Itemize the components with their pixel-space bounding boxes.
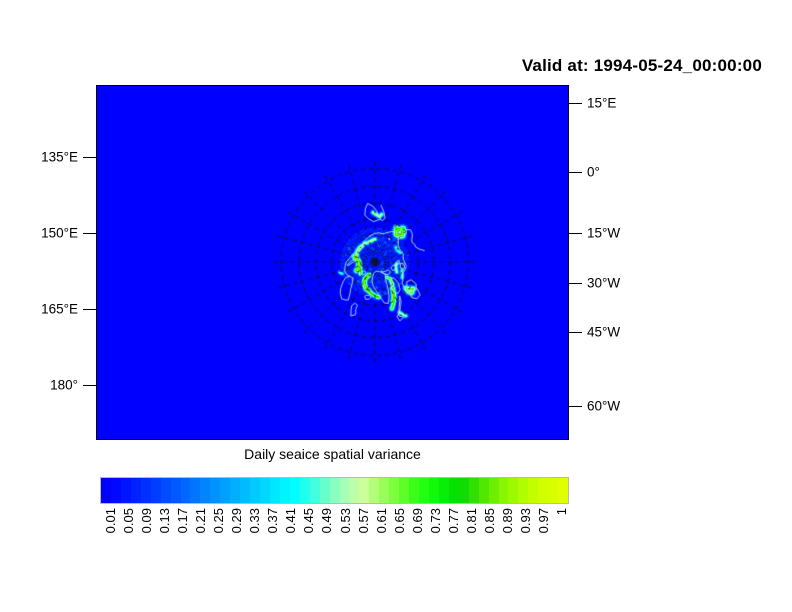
colorbar-tick-label: 0.29 [230,508,243,533]
left-axis-tick-label: 135°E [41,150,78,164]
colorbar-cell [101,478,111,503]
colorbar-gradient [100,477,569,504]
colorbar-tick-label: 0.73 [429,508,442,533]
colorbar-cell [409,478,419,503]
colorbar-cell [369,478,379,503]
colorbar-tick-label: 0.49 [320,508,333,533]
right-tick-mark [569,283,582,284]
colorbar-cell [419,478,429,503]
left-axis-tick-label: 180° [50,378,78,392]
colorbar-cell [190,478,200,503]
colorbar-cell [439,478,449,503]
colorbar-cell [389,478,399,503]
right-axis-tick-label: 60°W [587,399,620,413]
colorbar-tick-label: 0.41 [284,508,297,533]
right-tick-mark [569,172,582,173]
colorbar-cell [429,478,439,503]
colorbar-tick-label: 0.65 [393,508,406,533]
left-tick-mark [83,233,96,234]
colorbar-cell [479,478,489,503]
right-tick-mark [569,103,582,104]
colorbar-cell [200,478,210,503]
colorbar-cell [349,478,359,503]
colorbar-cell [340,478,350,503]
colorbar-tick-label: 0.45 [302,508,315,533]
colorbar-tick-label: 0.93 [519,508,532,533]
colorbar-tick-label: 0.89 [501,508,514,533]
colorbar-tick-label: 0.69 [411,508,424,533]
left-tick-mark [83,157,96,158]
colorbar-cell [220,478,230,503]
colorbar-cell [528,478,538,503]
colorbar-tick-label: 0.57 [357,508,370,533]
colorbar-tick-label: 0.13 [158,508,171,533]
colorbar-cell [518,478,528,503]
colorbar-cell [240,478,250,503]
map-caption: Daily seaice spatial variance [96,446,569,462]
colorbar-cell [260,478,270,503]
colorbar-tick-label: 0.77 [447,508,460,533]
colorbar-tick-label: 1 [555,508,568,515]
colorbar-cell [459,478,469,503]
colorbar-cell [499,478,509,503]
left-tick-mark [83,385,96,386]
colorbar-tick-label: 0.01 [104,508,117,533]
colorbar-tick-label: 0.97 [537,508,550,533]
colorbar-cell [508,478,518,503]
colorbar-cell [141,478,151,503]
colorbar-tick-label: 0.21 [194,508,207,533]
colorbar-cell [469,478,479,503]
colorbar [100,477,569,504]
right-tick-mark [569,406,582,407]
colorbar-tick-label: 0.25 [212,508,225,533]
colorbar-cell [181,478,191,503]
colorbar-tick-label: 0.85 [483,508,496,533]
left-axis-tick-label: 165°E [41,302,78,316]
colorbar-cell [270,478,280,503]
seaice-variance-map [97,86,568,439]
colorbar-tick-labels: 0.010.050.090.130.170.210.250.290.330.37… [100,508,569,564]
colorbar-cell [548,478,558,503]
colorbar-tick-label: 0.09 [140,508,153,533]
colorbar-cell [290,478,300,503]
left-axis-tick-label: 150°E [41,226,78,240]
colorbar-cell [171,478,181,503]
right-tick-mark [569,233,582,234]
page-title: Valid at: 1994-05-24_00:00:00 [522,56,762,76]
colorbar-cell [121,478,131,503]
right-axis-tick-label: 30°W [587,276,620,290]
colorbar-cell [131,478,141,503]
colorbar-tick-label: 0.05 [122,508,135,533]
right-axis-tick-label: 45°W [587,325,620,339]
colorbar-tick-label: 0.61 [375,508,388,533]
colorbar-cell [320,478,330,503]
colorbar-cell [210,478,220,503]
colorbar-cell [489,478,499,503]
colorbar-tick-label: 0.17 [176,508,189,533]
colorbar-cell [300,478,310,503]
colorbar-cell [230,478,240,503]
map-panel [96,85,569,440]
colorbar-tick-label: 0.33 [248,508,261,533]
colorbar-cell [250,478,260,503]
left-tick-mark [83,309,96,310]
colorbar-cell [538,478,548,503]
colorbar-tick-label: 0.37 [266,508,279,533]
right-tick-mark [569,332,582,333]
colorbar-tick-label: 0.53 [339,508,352,533]
colorbar-cell [379,478,389,503]
colorbar-cell [558,478,568,503]
right-axis-tick-label: 15°W [587,226,620,240]
colorbar-cell [151,478,161,503]
colorbar-cell [399,478,409,503]
colorbar-cell [330,478,340,503]
right-axis-tick-label: 0° [587,165,600,179]
colorbar-cell [449,478,459,503]
colorbar-cell [359,478,369,503]
colorbar-cell [111,478,121,503]
colorbar-cell [161,478,171,503]
colorbar-tick-label: 0.81 [465,508,478,533]
colorbar-cell [280,478,290,503]
right-axis-tick-label: 15°E [587,96,616,110]
colorbar-cell [310,478,320,503]
